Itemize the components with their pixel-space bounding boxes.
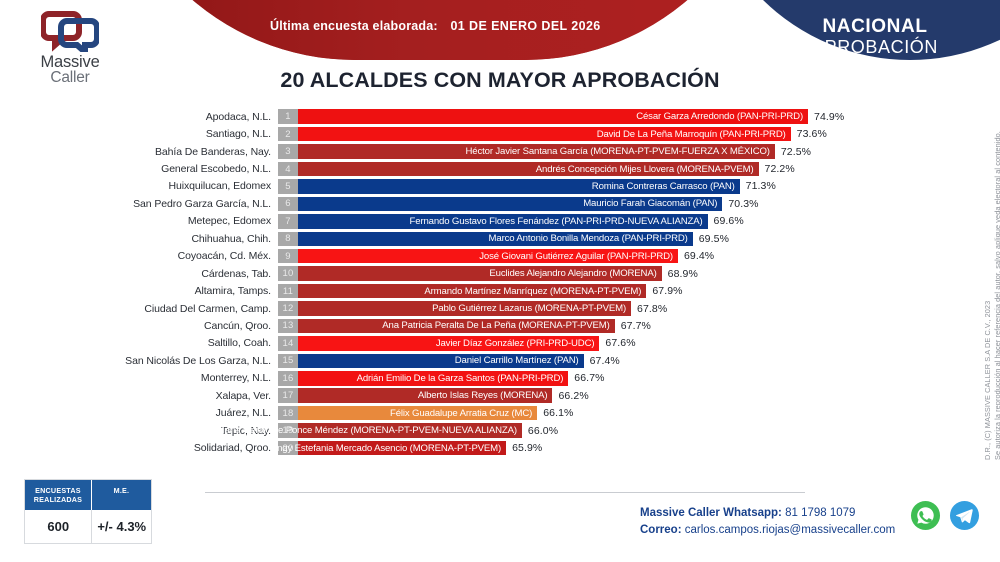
- chart-row: Bahía De Banderas, Nay.3Héctor Javier Sa…: [0, 143, 960, 160]
- city-label: Huixquilucan, Edomex: [0, 180, 278, 192]
- city-label: Altamira, Tamps.: [0, 285, 278, 297]
- candidate-label: Mauricio Farah Giacomán (PAN): [583, 198, 722, 209]
- rank-badge: 8: [278, 232, 298, 247]
- rank-badge: 16: [278, 371, 298, 386]
- bar-track: César Garza Arredondo (PAN-PRI-PRD)74.9%: [298, 109, 960, 124]
- city-label: Metepec, Edomex: [0, 215, 278, 227]
- chart-row: Juárez, N.L.18Félix Guadalupe Arratia Cr…: [0, 404, 960, 421]
- candidate-label: José Giovani Gutiérrez Aguilar (PAN-PRI-…: [479, 251, 678, 262]
- candidate-label: Romina Contreras Carrasco (PAN): [592, 181, 740, 192]
- contact-email-value: carlos.campos.riojas@massivecaller.com: [685, 524, 895, 536]
- rank-badge: 9: [278, 249, 298, 264]
- rank-badge: 14: [278, 336, 298, 351]
- bar-track: Armando Martínez Manríquez (MORENA-PT-PV…: [298, 284, 960, 299]
- bar-track: Adrián Emilio De la Garza Santos (PAN-PR…: [298, 371, 960, 386]
- chart-row: Monterrey, N.L.16Adrián Emilio De la Gar…: [0, 370, 960, 387]
- city-label: General Escobedo, N.L.: [0, 163, 278, 175]
- chart-row: Cárdenas, Tab.10Euclides Alejandro Aleja…: [0, 265, 960, 282]
- survey-date-label: Última encuesta elaborada:: [270, 19, 438, 33]
- header-scope: NACIONAL APROBACIÓN: [760, 16, 990, 57]
- rank-badge: 5: [278, 179, 298, 194]
- approval-bar: Ana Patricia Peralta De La Peña (MORENA-…: [298, 319, 615, 334]
- copyright-notice: D.R., (C) MASSIVE CALLER S.A DE C.V., 20…: [973, 108, 999, 468]
- approval-bar: Euclides Alejandro Alejandro (MORENA): [298, 266, 662, 281]
- bar-track: Andrés Concepción Mijes Llovera (MORENA-…: [298, 162, 960, 177]
- candidate-label: Daniel Carrillo Martínez (PAN): [455, 355, 584, 366]
- approval-bar: Félix Guadalupe Arratia Cruz (MC): [298, 406, 537, 421]
- contact-email: Correo: carlos.campos.riojas@massivecall…: [640, 522, 895, 539]
- city-label: Ciudad Del Carmen, Camp.: [0, 303, 278, 315]
- header-scope-line1: NACIONAL: [760, 16, 990, 37]
- whatsapp-icon[interactable]: [910, 500, 941, 531]
- chart-row: San Pedro Garza García, N.L.6Mauricio Fa…: [0, 195, 960, 212]
- approval-value: 72.5%: [781, 144, 811, 159]
- approval-value: 67.8%: [637, 301, 667, 316]
- rank-badge: 12: [278, 301, 298, 316]
- approval-bar-chart: Apodaca, N.L.1César Garza Arredondo (PAN…: [0, 108, 960, 457]
- city-label: Cancún, Qroo.: [0, 320, 278, 332]
- contact-whatsapp: Massive Caller Whatsapp: 81 1798 1079: [640, 505, 895, 522]
- approval-bar: Armando Martínez Manríquez (MORENA-PT-PV…: [298, 284, 646, 299]
- approval-bar: María Geraldine Ponce Méndez (MORENA-PT-…: [298, 423, 522, 438]
- bar-track: José Giovani Gutiérrez Aguilar (PAN-PRI-…: [298, 249, 960, 264]
- survey-date: Última encuesta elaborada: 01 DE ENERO D…: [270, 19, 601, 33]
- chart-row: Santiago, N.L.2David De La Peña Marroquí…: [0, 125, 960, 142]
- approval-value: 69.5%: [699, 232, 729, 247]
- bar-track: Marco Antonio Bonilla Mendoza (PAN-PRI-P…: [298, 232, 960, 247]
- chart-row: Cancún, Qroo.13Ana Patricia Peralta De L…: [0, 317, 960, 334]
- city-label: Monterrey, N.L.: [0, 372, 278, 384]
- approval-bar: Angy Estefania Mercado Asencio (MORENA-P…: [298, 441, 506, 456]
- approval-bar: Fernando Gustavo Flores Fenández (PAN-PR…: [298, 214, 708, 229]
- approval-value: 67.7%: [621, 319, 651, 334]
- city-label: Juárez, N.L.: [0, 407, 278, 419]
- rank-badge: 13: [278, 319, 298, 334]
- city-label: Bahía De Banderas, Nay.: [0, 146, 278, 158]
- approval-value: 67.9%: [652, 284, 682, 299]
- rank-badge: 7: [278, 214, 298, 229]
- candidate-label: Héctor Javier Santana García (MORENA-PT-…: [466, 146, 775, 157]
- approval-bar: Alberto Islas Reyes (MORENA): [298, 388, 552, 403]
- candidate-label: Alberto Islas Reyes (MORENA): [418, 390, 553, 401]
- rank-badge: 10: [278, 266, 298, 281]
- approval-bar: César Garza Arredondo (PAN-PRI-PRD): [298, 109, 808, 124]
- approval-value: 67.6%: [605, 336, 635, 351]
- city-label: Santiago, N.L.: [0, 128, 278, 140]
- stats-header-surveys: ENCUESTAS REALIZADAS: [25, 480, 92, 510]
- survey-stats-table: ENCUESTAS REALIZADAS M.E. 600 +/- 4.3%: [24, 479, 152, 544]
- city-label: Chihuahua, Chih.: [0, 233, 278, 245]
- city-label: Cárdenas, Tab.: [0, 268, 278, 280]
- candidate-label: Javier Díaz González (PRI-PRD-UDC): [436, 338, 600, 349]
- rank-badge: 1: [278, 109, 298, 124]
- chart-row: Ciudad Del Carmen, Camp.12Pablo Gutiérre…: [0, 300, 960, 317]
- rank-badge: 15: [278, 354, 298, 369]
- approval-bar: Javier Díaz González (PRI-PRD-UDC): [298, 336, 599, 351]
- approval-bar: Andrés Concepción Mijes Llovera (MORENA-…: [298, 162, 759, 177]
- approval-bar: José Giovani Gutiérrez Aguilar (PAN-PRI-…: [298, 249, 678, 264]
- bar-track: Félix Guadalupe Arratia Cruz (MC)66.1%: [298, 406, 960, 421]
- page-title: 20 ALCALDES CON MAYOR APROBACIÓN: [0, 68, 1000, 93]
- rank-badge: 4: [278, 162, 298, 177]
- stats-value-surveys: 600: [25, 510, 92, 543]
- city-label: Solidariad, Qroo.: [0, 442, 278, 454]
- bar-track: Daniel Carrillo Martínez (PAN)67.4%: [298, 354, 960, 369]
- candidate-label: Armando Martínez Manríquez (MORENA-PT-PV…: [424, 286, 646, 297]
- approval-value: 74.9%: [814, 109, 844, 124]
- chat-bubbles-icon: [41, 8, 99, 52]
- candidate-label: David De La Peña Marroquín (PAN-PRI-PRD): [597, 129, 791, 140]
- bar-track: Fernando Gustavo Flores Fenández (PAN-PR…: [298, 214, 960, 229]
- bar-track: Romina Contreras Carrasco (PAN)71.3%: [298, 179, 960, 194]
- survey-stats-value-row: 600 +/- 4.3%: [25, 510, 151, 543]
- approval-bar: Marco Antonio Bonilla Mendoza (PAN-PRI-P…: [298, 232, 693, 247]
- contact-email-label: Correo:: [640, 524, 682, 536]
- approval-value: 66.7%: [574, 371, 604, 386]
- contact-whatsapp-label: Massive Caller Whatsapp:: [640, 507, 782, 519]
- approval-value: 65.9%: [512, 441, 542, 456]
- approval-value: 70.3%: [728, 197, 758, 212]
- bar-track: Javier Díaz González (PRI-PRD-UDC)67.6%: [298, 336, 960, 351]
- rank-badge: 17: [278, 388, 298, 403]
- candidate-label: Andrés Concepción Mijes Llovera (MORENA-…: [536, 164, 759, 175]
- survey-date-value: 01 DE ENERO DEL 2026: [450, 19, 600, 33]
- approval-value: 66.2%: [558, 388, 588, 403]
- approval-bar: David De La Peña Marroquín (PAN-PRI-PRD): [298, 127, 791, 142]
- city-label: San Nicolás De Los Garza, N.L.: [0, 355, 278, 367]
- approval-value: 71.3%: [746, 179, 776, 194]
- chart-row: Xalapa, Ver.17Alberto Islas Reyes (MOREN…: [0, 387, 960, 404]
- approval-value: 72.2%: [765, 162, 795, 177]
- candidate-label: Fernando Gustavo Flores Fenández (PAN-PR…: [410, 216, 708, 227]
- approval-value: 66.1%: [543, 406, 573, 421]
- telegram-icon[interactable]: [949, 500, 980, 531]
- approval-bar: Héctor Javier Santana García (MORENA-PT-…: [298, 144, 775, 159]
- approval-bar: Adrián Emilio De la Garza Santos (PAN-PR…: [298, 371, 568, 386]
- city-label: Coyoacán, Cd. Méx.: [0, 250, 278, 262]
- bar-track: Pablo Gutiérrez Lazarus (MORENA-PT-PVEM)…: [298, 301, 960, 316]
- approval-value: 67.4%: [590, 354, 620, 369]
- chart-row: Altamira, Tamps.11Armando Martínez Manrí…: [0, 282, 960, 299]
- approval-value: 73.6%: [797, 127, 827, 142]
- chart-row: Saltillo, Coah.14Javier Díaz González (P…: [0, 335, 960, 352]
- chart-row: Chihuahua, Chih.8Marco Antonio Bonilla M…: [0, 230, 960, 247]
- candidate-label: Félix Guadalupe Arratia Cruz (MC): [390, 408, 537, 419]
- rank-badge: 18: [278, 406, 298, 421]
- approval-value: 69.6%: [714, 214, 744, 229]
- rank-badge: 3: [278, 144, 298, 159]
- bar-track: Ana Patricia Peralta De La Peña (MORENA-…: [298, 319, 960, 334]
- rank-badge: 6: [278, 197, 298, 212]
- candidate-label: María Geraldine Ponce Méndez (MORENA-PT-…: [217, 425, 522, 436]
- chart-row: General Escobedo, N.L.4Andrés Concepción…: [0, 160, 960, 177]
- city-label: Apodaca, N.L.: [0, 111, 278, 123]
- contact-whatsapp-value: 81 1798 1079: [785, 507, 855, 519]
- bar-track: Alberto Islas Reyes (MORENA)66.2%: [298, 388, 960, 403]
- approval-value: 68.9%: [668, 266, 698, 281]
- infographic-page: Última encuesta elaborada: 01 DE ENERO D…: [0, 0, 1000, 562]
- social-links: [910, 500, 980, 531]
- copyright-line1: D.R., (C) MASSIVE CALLER S.A DE C.V., 20…: [983, 301, 992, 460]
- footer-divider: [205, 492, 805, 493]
- header-scope-line2: APROBACIÓN: [760, 37, 990, 57]
- approval-bar: Mauricio Farah Giacomán (PAN): [298, 197, 722, 212]
- chart-row: Coyoacán, Cd. Méx.9José Giovani Gutiérre…: [0, 248, 960, 265]
- bar-track: María Geraldine Ponce Méndez (MORENA-PT-…: [298, 423, 960, 438]
- candidate-label: Angy Estefania Mercado Asencio (MORENA-P…: [271, 443, 506, 454]
- chart-row: Huixquilucan, Edomex5Romina Contreras Ca…: [0, 178, 960, 195]
- rank-badge: 11: [278, 284, 298, 299]
- bar-track: Héctor Javier Santana García (MORENA-PT-…: [298, 144, 960, 159]
- survey-stats-header-row: ENCUESTAS REALIZADAS M.E.: [25, 480, 151, 510]
- candidate-label: Pablo Gutiérrez Lazarus (MORENA-PT-PVEM): [432, 303, 631, 314]
- candidate-label: Euclides Alejandro Alejandro (MORENA): [489, 268, 661, 279]
- bar-track: Angy Estefania Mercado Asencio (MORENA-P…: [298, 441, 960, 456]
- chart-row: Apodaca, N.L.1César Garza Arredondo (PAN…: [0, 108, 960, 125]
- chart-row: Metepec, Edomex7Fernando Gustavo Flores …: [0, 213, 960, 230]
- stats-header-margin: M.E.: [92, 480, 151, 510]
- approval-bar: Romina Contreras Carrasco (PAN): [298, 179, 740, 194]
- city-label: San Pedro Garza García, N.L.: [0, 198, 278, 210]
- bar-track: David De La Peña Marroquín (PAN-PRI-PRD)…: [298, 127, 960, 142]
- stats-value-margin: +/- 4.3%: [92, 510, 151, 543]
- bar-track: Mauricio Farah Giacomán (PAN)70.3%: [298, 197, 960, 212]
- city-label: Xalapa, Ver.: [0, 390, 278, 402]
- chart-row: Tepic, Nay.19María Geraldine Ponce Ménde…: [0, 422, 960, 439]
- approval-bar: Daniel Carrillo Martínez (PAN): [298, 354, 584, 369]
- chart-row: San Nicolás De Los Garza, N.L.15Daniel C…: [0, 352, 960, 369]
- copyright-line2: Se autoriza la reproducción al hacer ref…: [993, 131, 1000, 460]
- candidate-label: César Garza Arredondo (PAN-PRI-PRD): [636, 111, 808, 122]
- rank-badge: 2: [278, 127, 298, 142]
- candidate-label: Ana Patricia Peralta De La Peña (MORENA-…: [382, 320, 614, 331]
- chart-row: Solidariad, Qroo.20Angy Estefania Mercad…: [0, 439, 960, 456]
- candidate-label: Adrián Emilio De la Garza Santos (PAN-PR…: [357, 373, 569, 384]
- approval-value: 66.0%: [528, 423, 558, 438]
- candidate-label: Marco Antonio Bonilla Mendoza (PAN-PRI-P…: [489, 233, 693, 244]
- approval-bar: Pablo Gutiérrez Lazarus (MORENA-PT-PVEM): [298, 301, 631, 316]
- contact-info: Massive Caller Whatsapp: 81 1798 1079 Co…: [640, 505, 895, 538]
- city-label: Saltillo, Coah.: [0, 337, 278, 349]
- approval-value: 69.4%: [684, 249, 714, 264]
- bar-track: Euclides Alejandro Alejandro (MORENA)68.…: [298, 266, 960, 281]
